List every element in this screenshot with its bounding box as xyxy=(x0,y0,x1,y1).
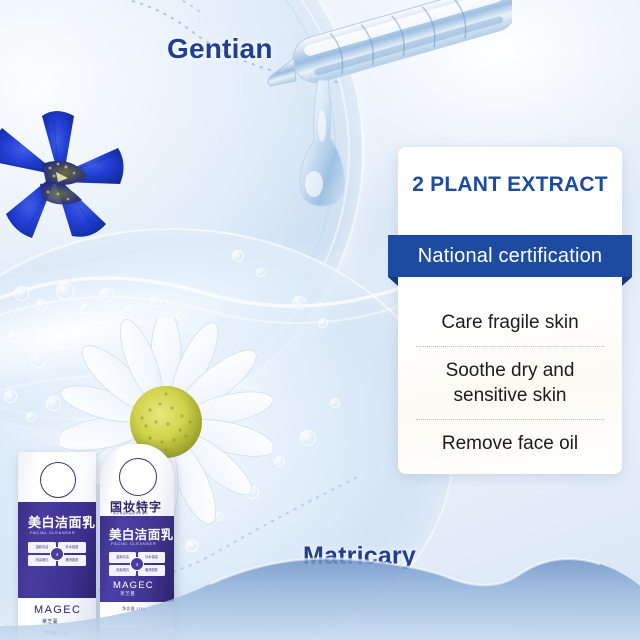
certification-seal-box xyxy=(40,462,76,498)
ribbon-label: National certification xyxy=(418,245,603,268)
certification-seal-tube xyxy=(119,458,157,496)
feature-list: Care fragile skin Soothe dry and sensiti… xyxy=(414,299,606,467)
gentian-label: Gentian xyxy=(167,33,273,65)
box-product-name-cn: 美白洁面乳 xyxy=(28,512,96,531)
feature-item: Remove face oil xyxy=(414,420,606,467)
info-card: 2 PLANT EXTRACT National certification C… xyxy=(398,147,622,474)
feature-item: Care fragile skin xyxy=(414,299,606,346)
national-certification-ribbon: National certification xyxy=(388,235,632,277)
card-title: 2 PLANT EXTRACT xyxy=(398,173,622,197)
tube-cert-sub: 国家食品药品监督管理局 xyxy=(113,511,148,515)
product-ad-banner: Gentian Matricary 国妆特字 国家食品药品监督管理局 美白洁面乳… xyxy=(0,0,640,640)
feature-item: Soothe dry and sensitive skin xyxy=(414,347,606,419)
gentian-flower xyxy=(0,104,134,254)
bottom-water-wave xyxy=(0,530,640,640)
